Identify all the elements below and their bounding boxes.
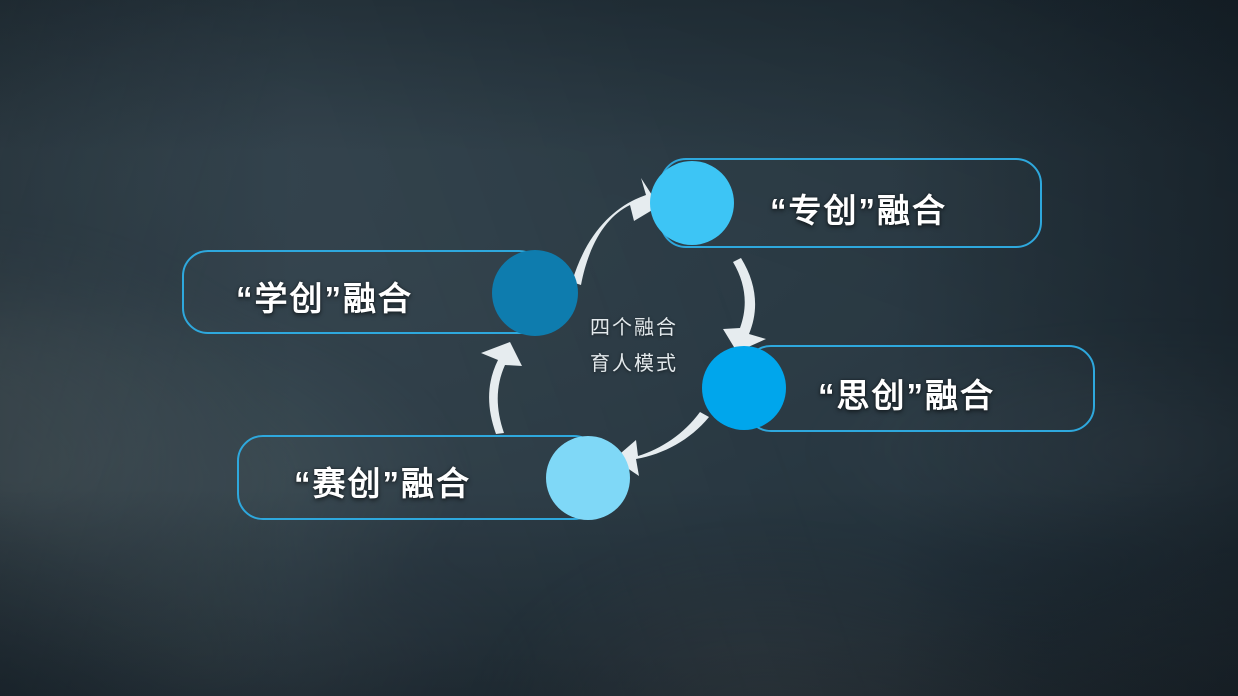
center-caption-line-1: 四个融合 [590, 310, 740, 346]
node-label: “思创”融合 [818, 369, 995, 417]
node-label: “学创”融合 [236, 272, 413, 320]
node-bullet-circle [492, 250, 578, 336]
node-bullet-circle [546, 436, 630, 520]
arrow-contest-to-learn [481, 342, 522, 434]
center-caption-line-2: 育人模式 [590, 346, 740, 382]
arrow-learn-to-major [572, 178, 659, 285]
node-label: “赛创”融合 [294, 457, 471, 505]
node-bullet-circle [650, 161, 734, 245]
node-label: “专创”融合 [770, 184, 947, 232]
slide-canvas: “专创”融合 “学创”融合 “思创”融合 “赛创”融合 四个融合 育人模式 [0, 0, 1238, 696]
center-caption: 四个融合 育人模式 [590, 310, 740, 382]
cycle-diagram: “专创”融合 “学创”融合 “思创”融合 “赛创”融合 四个融合 育人模式 [0, 0, 1238, 696]
